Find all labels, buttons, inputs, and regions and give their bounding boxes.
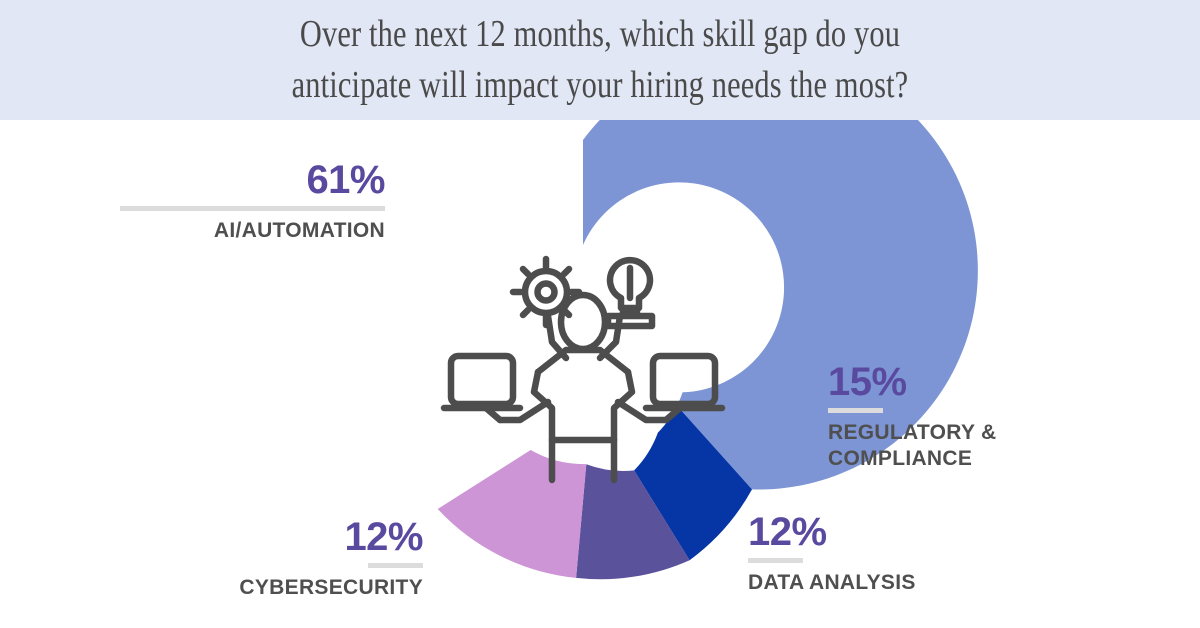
- callout-ai-automation[interactable]: 61% AI/AUTOMATION: [120, 160, 385, 244]
- page-title: Over the next 12 months, which skill gap…: [128, 9, 1072, 112]
- callout-regulatory-connector-line: [828, 408, 883, 413]
- callout-regulatory-compliance[interactable]: 15% REGULATORY & COMPLIANCE: [828, 362, 1078, 471]
- callout-data-percent: 12%: [748, 512, 963, 552]
- callout-cyber-label: CYBERSECURITY: [218, 575, 423, 601]
- callout-data-analysis[interactable]: 12% DATA ANALYSIS: [748, 512, 963, 596]
- callout-cybersecurity[interactable]: 12% CYBERSECURITY: [218, 517, 423, 601]
- callout-regulatory-label-line2: COMPLIANCE: [828, 446, 1078, 472]
- callout-ai-percent: 61%: [120, 160, 385, 200]
- header-banner: Over the next 12 months, which skill gap…: [0, 0, 1200, 120]
- callout-cyber-connector-line: [368, 563, 423, 568]
- callout-ai-connector-line: [120, 206, 385, 211]
- callout-ai-label: AI/AUTOMATION: [120, 218, 385, 244]
- callout-data-connector-line: [748, 558, 803, 563]
- callout-cyber-percent: 12%: [218, 517, 423, 557]
- callout-regulatory-label-line1: REGULATORY &: [828, 420, 1078, 446]
- callout-regulatory-percent: 15%: [828, 362, 1078, 402]
- donut-slice-cyber[interactable]: [438, 448, 587, 578]
- callout-data-label: DATA ANALYSIS: [748, 570, 963, 596]
